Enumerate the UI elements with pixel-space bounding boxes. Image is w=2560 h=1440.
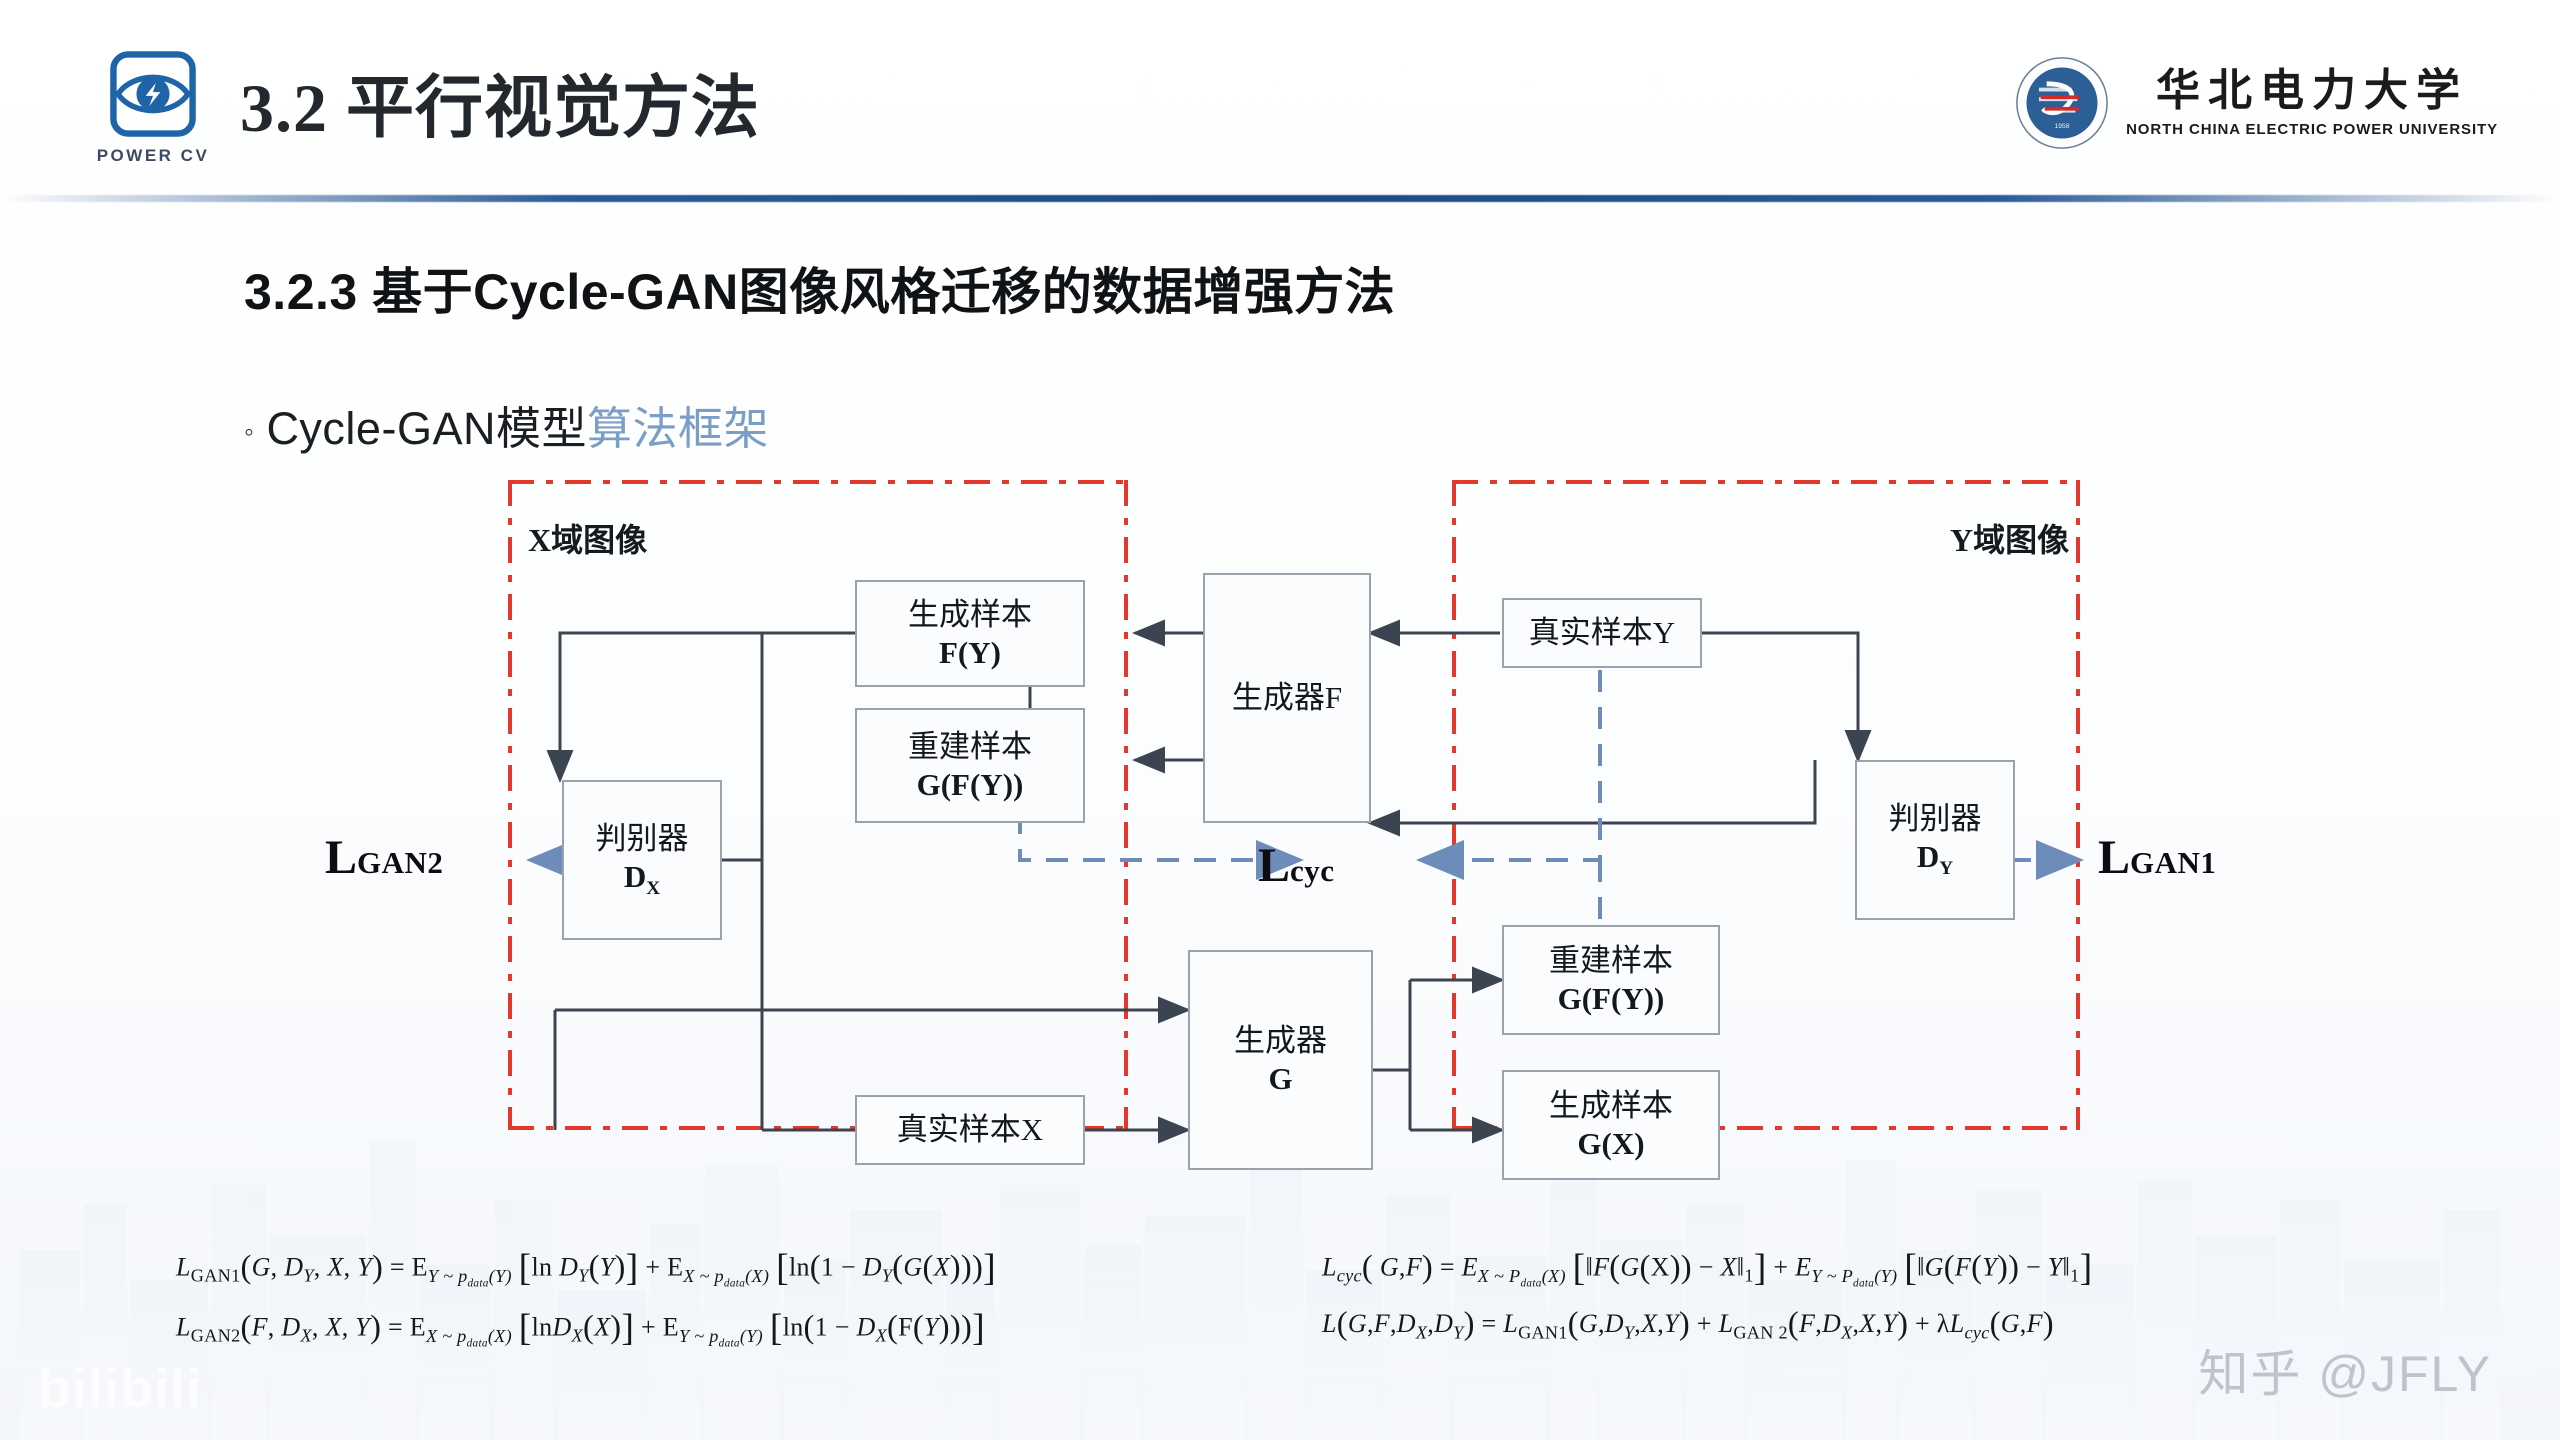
university-name-en: NORTH CHINA ELECTRIC POWER UNIVERSITY — [2126, 121, 2498, 138]
cyclegan-diagram: X域图像 Y域图像 — [0, 440, 2560, 1200]
university-seal-icon: 1958 — [2014, 55, 2110, 151]
svg-text:1958: 1958 — [2055, 123, 2070, 130]
brand-logo-text: POWER CV — [88, 146, 218, 166]
section-title: 3.2 平行视觉方法 — [240, 52, 760, 151]
box-real-sample-x: 真实样本X — [855, 1095, 1085, 1165]
formula-l-cyc: Lcyc( G,F) = EX ~ Pdata(X) [‖F(G(X)) − X… — [1322, 1246, 2092, 1290]
header-divider — [0, 195, 2560, 202]
loss-label-l-gan1: LGAN1 — [2098, 830, 2216, 885]
loss-label-l-gan2: LGAN2 — [325, 830, 443, 885]
slide-root: POWER CV 3.2 平行视觉方法 bilibili 1958 华北电力大学… — [0, 0, 2560, 1440]
formula-l-gan2: LGAN2(F, DX, X, Y) = EX ~ pdata(X) [lnDX… — [176, 1306, 985, 1350]
loss-label-l-cyc: Lcyc — [1258, 838, 1335, 893]
box-generator-f: 生成器F — [1203, 573, 1371, 823]
box-generated-sample-fy: 生成样本 F(Y) — [855, 580, 1085, 687]
page-title: 3.2.3 基于Cycle-GAN图像风格迁移的数据增强方法 — [244, 252, 1395, 324]
university-branding: 1958 华北电力大学 NORTH CHINA ELECTRIC POWER U… — [2014, 55, 2498, 151]
formula-block: LGAN1(G, DY, X, Y) = EY ~ pdata(Y) [ln D… — [0, 1238, 2560, 1368]
eye-lightning-icon — [107, 48, 199, 140]
box-real-sample-y: 真实样本Y — [1502, 598, 1702, 668]
brand-logo: POWER CV — [88, 48, 218, 166]
box-reconstructed-sample-gfy: 重建样本 G(F(Y)) — [855, 708, 1085, 823]
formula-total-loss: L(G,F,DX,DY) = LGAN1(G,DY,X,Y) + LGAN 2(… — [1322, 1306, 2054, 1343]
box-discriminator-dy: 判别器 DY — [1855, 760, 2015, 920]
formula-l-gan1: LGAN1(G, DY, X, Y) = EY ~ pdata(Y) [ln D… — [176, 1246, 996, 1290]
university-name-cn: 华北电力大学 — [2156, 69, 2468, 113]
box-discriminator-dx: 判别器 DX — [562, 780, 722, 940]
box-reconstructed-sample-gfy-right: 重建样本 G(F(Y)) — [1502, 925, 1720, 1035]
slide-header: POWER CV 3.2 平行视觉方法 bilibili 1958 华北电力大学… — [0, 0, 2560, 200]
box-generated-sample-gx: 生成样本 G(X) — [1502, 1070, 1720, 1180]
box-generator-g: 生成器 G — [1188, 950, 1373, 1170]
